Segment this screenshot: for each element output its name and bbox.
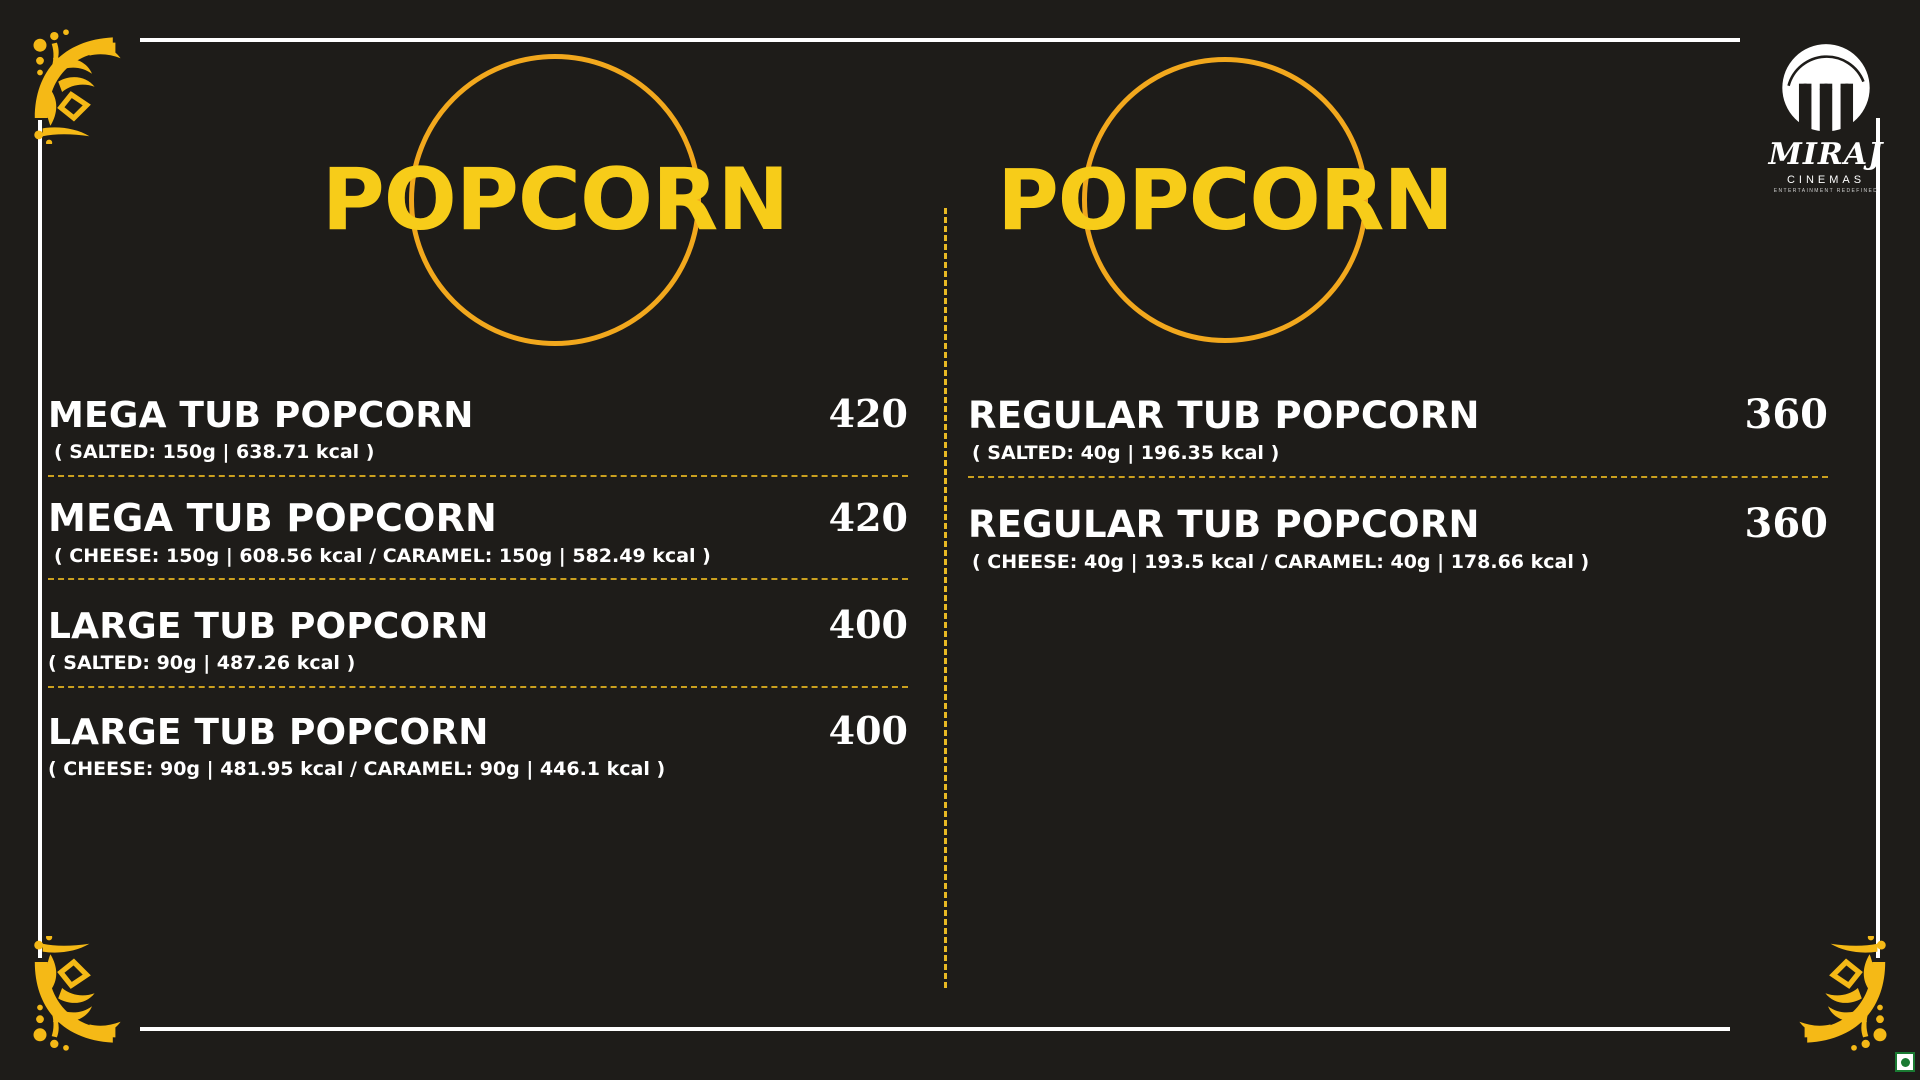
menu-item-description: ( CHEESE: 90g | 481.95 kcal / CARAMEL: 9…	[48, 759, 908, 780]
item-separator	[48, 578, 908, 580]
menu-item-name: REGULAR TUB POPCORN	[968, 397, 1480, 436]
menu-item: MEGA TUB POPCORN 420 ( CHEESE: 150g | 60…	[48, 499, 908, 581]
menu-column-right: REGULAR TUB POPCORN 360 ( SALTED: 40g | …	[968, 395, 1828, 572]
menu-board: POPCORN POPCORN	[0, 0, 1920, 1080]
menu-item: LARGE TUB POPCORN 400 ( SALTED: 90g | 48…	[48, 606, 908, 688]
menu-item-description: ( SALTED: 40g | 196.35 kcal )	[972, 443, 1828, 464]
menu-item-price: 400	[803, 712, 908, 750]
menu-item-row: REGULAR TUB POPCORN 360	[968, 395, 1828, 436]
corner-ornament-icon	[14, 14, 144, 144]
menu-item-description: ( SALTED: 90g | 487.26 kcal )	[48, 653, 908, 674]
menu-item-price: 420	[803, 395, 908, 433]
logo-wordmark: MIRAJ	[1766, 140, 1886, 170]
veg-mark-icon	[1895, 1052, 1915, 1072]
corner-ornament-icon	[1776, 936, 1906, 1066]
menu-item-name: LARGE TUB POPCORN	[48, 714, 489, 752]
menu-item-row: MEGA TUB POPCORN 420	[48, 499, 908, 539]
menu-item: MEGA TUB POPCORN 420 ( SALTED: 150g | 63…	[48, 395, 908, 477]
menu-item-row: MEGA TUB POPCORN 420	[48, 395, 908, 435]
logo-tagline: ENTERTAINMENT REDEFINED	[1766, 189, 1886, 194]
column-divider	[944, 208, 947, 988]
menu-item-name: MEGA TUB POPCORN	[48, 499, 497, 539]
section-heading-popcorn-left: POPCORN	[275, 40, 835, 360]
menu-item: LARGE TUB POPCORN 400 ( CHEESE: 90g | 48…	[48, 712, 908, 780]
logo-subtitle: CINEMAS	[1766, 175, 1886, 186]
menu-item: REGULAR TUB POPCORN 360 ( CHEESE: 40g | …	[968, 504, 1828, 573]
item-separator	[968, 476, 1828, 478]
menu-item-description: ( SALTED: 150g | 638.71 kcal )	[54, 442, 908, 463]
menu-item-row: LARGE TUB POPCORN 400	[48, 712, 908, 752]
miraj-cinemas-logo: MIRAJ CINEMAS ENTERTAINMENT REDEFINED	[1766, 40, 1886, 215]
frame-right-line	[1876, 118, 1880, 958]
menu-item-price: 360	[1719, 504, 1829, 544]
miraj-pillars-icon	[1774, 40, 1878, 144]
menu-item-name: LARGE TUB POPCORN	[48, 608, 489, 646]
menu-item-description: ( CHEESE: 40g | 193.5 kcal / CARAMEL: 40…	[972, 552, 1828, 573]
menu-column-left: MEGA TUB POPCORN 420 ( SALTED: 150g | 63…	[48, 395, 908, 780]
corner-ornament-icon	[14, 936, 144, 1066]
menu-item-price: 360	[1719, 395, 1829, 435]
menu-item-name: MEGA TUB POPCORN	[48, 397, 474, 435]
menu-item: REGULAR TUB POPCORN 360 ( SALTED: 40g | …	[968, 395, 1828, 478]
menu-item-price: 420	[803, 499, 908, 537]
menu-item-price: 400	[803, 606, 908, 644]
menu-item-row: LARGE TUB POPCORN 400	[48, 606, 908, 646]
menu-item-name: REGULAR TUB POPCORN	[968, 506, 1480, 545]
section-heading-popcorn-right: POPCORN	[945, 40, 1505, 360]
item-separator	[48, 686, 908, 688]
menu-item-description: ( CHEESE: 150g | 608.56 kcal / CARAMEL: …	[54, 546, 908, 567]
frame-bottom-line	[140, 1027, 1730, 1031]
item-separator	[48, 475, 908, 477]
heading-text: POPCORN	[945, 158, 1505, 242]
menu-item-row: REGULAR TUB POPCORN 360	[968, 504, 1828, 545]
frame-left-line	[38, 120, 42, 958]
heading-text: POPCORN	[275, 157, 835, 243]
